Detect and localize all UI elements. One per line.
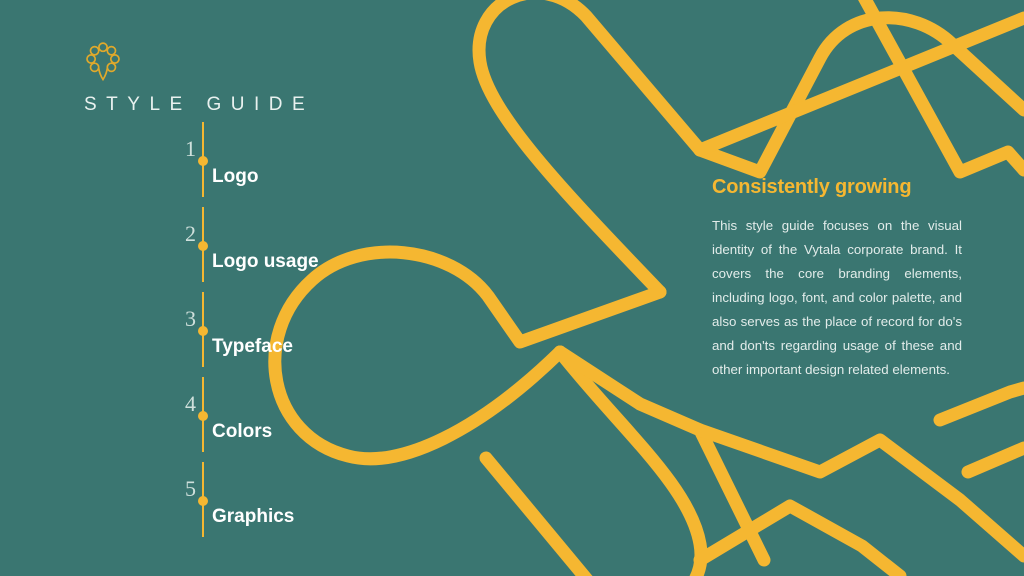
list-item[interactable]: 2 Logo usage (0, 207, 470, 292)
timeline-number: 3 (172, 308, 196, 330)
timeline-dot (198, 411, 208, 421)
timeline-dot (198, 241, 208, 251)
timeline-label: Logo usage (212, 251, 319, 273)
list-item[interactable]: 3 Typeface (0, 292, 470, 377)
timeline-dot (198, 326, 208, 336)
brand-block: STYLE GUIDE (84, 42, 384, 116)
timeline-label: Logo (212, 166, 258, 188)
timeline-label: Colors (212, 421, 272, 443)
list-item[interactable]: 1 Logo (0, 122, 470, 207)
timeline-number: 2 (172, 223, 196, 245)
timeline-label: Graphics (212, 506, 294, 528)
timeline-number: 1 (172, 138, 196, 160)
style-guide-slide: STYLE GUIDE 1 Logo 2 Logo usage 3 Typefa… (0, 0, 1024, 576)
copy-block: Consistently growing This style guide fo… (712, 176, 962, 382)
timeline-label: Typeface (212, 336, 293, 358)
timeline-number: 5 (172, 478, 196, 500)
timeline-list: 1 Logo 2 Logo usage 3 Typeface 4 Col (0, 122, 470, 547)
timeline-dot (198, 496, 208, 506)
left-panel: STYLE GUIDE 1 Logo 2 Logo usage 3 Typefa… (0, 0, 470, 576)
timeline-dot (198, 156, 208, 166)
list-item[interactable]: 5 Graphics (0, 462, 470, 547)
timeline-number: 4 (172, 393, 196, 415)
rosette-flower-icon (86, 42, 120, 82)
copy-heading: Consistently growing (712, 176, 962, 199)
list-item[interactable]: 4 Colors (0, 377, 470, 462)
page-title: STYLE GUIDE (84, 94, 384, 116)
copy-body: This style guide focuses on the visual i… (712, 214, 962, 382)
